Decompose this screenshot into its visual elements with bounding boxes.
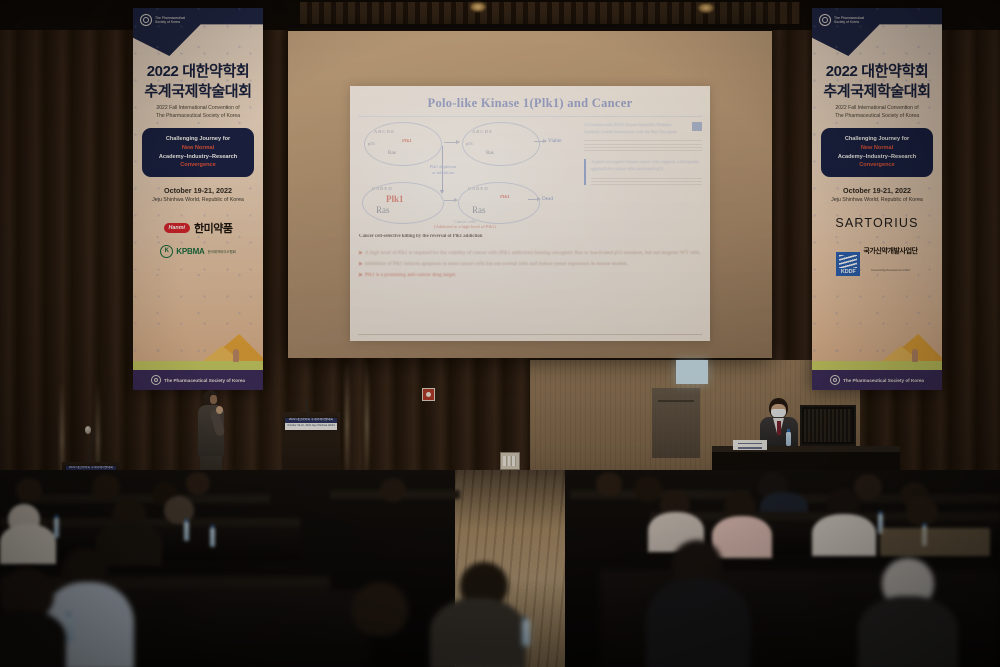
bullet-marker-icon: ▶ <box>359 251 363 256</box>
podium-presenter-nameplate: 2022 대한약학회 추계국제학술대회 October 19-21, 2022 … <box>285 418 337 430</box>
audience-head <box>596 472 622 496</box>
plk1-label: Plk1 <box>500 195 510 200</box>
banner-footer-text: The Pharmaceutical Society of Korea <box>164 378 245 383</box>
psk-logo-text: The Pharmaceutical Society of Korea <box>155 16 185 25</box>
bullet-marker-icon: ▶ <box>359 262 363 267</box>
kddf-mark-icon <box>836 252 860 276</box>
audience-area <box>0 470 1000 667</box>
banner-figure-graphic <box>912 349 918 362</box>
audience-head <box>634 476 662 502</box>
reference-body-lines <box>584 140 702 151</box>
audience-body <box>0 610 66 667</box>
banner-grass-band <box>812 361 942 370</box>
reference-title: A Genome-wide RNAi Screen Identifies Mul… <box>584 122 702 135</box>
outcome-dead: Dead <box>542 196 553 202</box>
fire-alarm-icon <box>422 388 435 401</box>
ras-label-large: Ras <box>376 205 390 215</box>
audience-body <box>712 516 772 558</box>
presentation-slide: Polo-like Kinase 1(Plk1) and Cancer A B … <box>350 86 710 341</box>
slide-subheading: Cancer cell-selective killing by the rev… <box>359 234 482 239</box>
depletion-note-line1: Plk1 depletion <box>430 164 457 169</box>
kddf-korean-name: 국가신약개발사업단 <box>863 248 917 255</box>
session-monitor <box>800 405 856 446</box>
kpbma-logo: K KPBMA 한국제약바이오협회 <box>160 245 235 258</box>
kpbma-mark-icon: K <box>160 245 173 258</box>
cell-letters-bottom-right: C A B E D <box>468 186 488 191</box>
kddf-logo: 국가신약개발사업단 Korea Drug Development Fund <box>836 240 917 276</box>
banner-english-title: 2022 Fall International Convention of Th… <box>812 105 942 120</box>
psk-line2: Society of Korea <box>834 20 864 24</box>
confidence-monitor <box>676 360 708 384</box>
ceiling-light <box>470 2 486 12</box>
seat-row-desk <box>20 494 270 503</box>
bullet-item: ▶Plk1 is a promising anti-cancer drug ta… <box>359 270 701 281</box>
slide-bullet-list: ▶A high level of Plk1 is required for th… <box>359 248 701 280</box>
banner-en-line1: 2022 Fall International Convention of <box>812 105 942 113</box>
reference-quote-text: A panel of isogenic human cancer cells s… <box>591 159 702 172</box>
depletion-note-line2: or inhibition <box>432 170 455 175</box>
ras-label: Ras <box>486 150 494 156</box>
banner-left: The Pharmaceutical Society of Korea 2022… <box>133 8 263 390</box>
reference-quote-lines <box>591 178 702 186</box>
microphone-head-icon <box>85 426 91 434</box>
audience-head <box>380 478 406 502</box>
p53-label: p53 <box>466 141 473 146</box>
water-bottle <box>786 432 791 446</box>
water-bottle <box>66 616 74 642</box>
slide-title: Polo-like Kinase 1(Plk1) and Cancer <box>350 96 710 111</box>
kddf-english-name: Korea Drug Development Fund <box>871 268 910 272</box>
podium-plate-band: 2022 대한약학회 추계국제학술대회 <box>285 418 337 423</box>
audience-head <box>352 582 408 636</box>
arrow-top <box>444 142 459 143</box>
banner-hill-graphic <box>133 330 263 364</box>
presenter-hand <box>216 406 223 414</box>
outcome-viable: Viable <box>548 138 562 144</box>
psk-seal-icon <box>140 14 152 26</box>
water-bottle <box>54 518 59 538</box>
slogan-line3: Academy–Industry–Research <box>825 153 929 162</box>
slogan-line1: Challenging Journey for <box>146 135 250 144</box>
plk1-addiction-diagram: A B C D E p53 Plk1 Ras A B C D E p53 Ras… <box>358 120 572 228</box>
depletion-note: Plk1 depletion or inhibition <box>406 164 480 176</box>
slogan-line2: New Normal <box>825 144 929 153</box>
banner-slogan-pill: Challenging Journey for New Normal Acade… <box>142 128 254 177</box>
banner-sponsor-logos-right: SARTORIUS 국가신약개발사업단 Korea Drug Developme… <box>812 216 942 281</box>
audience-body <box>430 598 526 667</box>
banner-korean-title: 2022 대한약학회 추계국제학술대회 <box>133 60 263 101</box>
water-bottle <box>522 620 530 646</box>
slogan-line3: Academy–Industry–Research <box>146 153 250 162</box>
arrow-to-dead <box>528 199 540 200</box>
bullet-item: ▶A high level of Plk1 is required for th… <box>359 248 701 259</box>
banner-slogan-pill: Challenging Journey for New Normal Acade… <box>821 128 933 177</box>
banner-en-line2: The Pharmaceutical Society of Korea <box>812 113 942 121</box>
seat-row-desk <box>0 518 300 526</box>
cell-letters-top-left: A B C D E <box>374 129 394 134</box>
banner-title-line2: 추계국제학술대회 <box>133 80 263 101</box>
kpbma-wordmark: KPBMA <box>176 247 204 256</box>
banner-title-line1: 2022 대한약학회 <box>133 60 263 81</box>
bullet-text: A high level of Plk1 is required for the… <box>365 250 701 256</box>
audience-head <box>164 496 194 524</box>
audience-body <box>812 514 876 556</box>
microphone-head-icon <box>302 393 308 401</box>
cell-letters-bottom-left: C A B E D <box>372 186 392 191</box>
banner-venue: Jeju Shinhwa World, Republic of Korea <box>133 197 263 203</box>
sartorius-logo: SARTORIUS <box>812 216 942 230</box>
ceiling-light <box>698 3 714 13</box>
paper-bag <box>880 528 990 556</box>
banner-date: October 19-21, 2022 <box>133 186 263 195</box>
water-bottle <box>184 522 189 541</box>
audience-head <box>16 478 42 502</box>
arrow-to-viable <box>534 141 546 142</box>
kddf-names: 국가신약개발사업단 Korea Drug Development Fund <box>863 240 917 276</box>
reference-quote: A panel of isogenic human cancer cells s… <box>584 159 702 185</box>
banner-figure-graphic <box>233 349 239 362</box>
hanmi-korean-name: 한미약품 <box>194 220 232 236</box>
psk-seal-icon <box>151 375 161 385</box>
slogan-line2: New Normal <box>146 144 250 153</box>
audience-body <box>96 522 162 566</box>
slogan-line1: Challenging Journey for <box>825 135 929 144</box>
psk-seal-icon <box>819 14 831 26</box>
water-bottle <box>210 528 215 547</box>
psk-line2: Society of Korea <box>155 20 185 24</box>
banner-english-title: 2022 Fall International Convention of Th… <box>133 105 263 120</box>
audience-head <box>186 472 210 494</box>
kpbma-korean-name: 한국제약바이오협회 <box>208 249 236 254</box>
banner-footer-text: The Pharmaceutical Society of Korea <box>843 378 924 383</box>
bullet-marker-icon: ▶ <box>359 273 363 278</box>
banner-footer: The Pharmaceutical Society of Korea <box>133 370 263 390</box>
screen-top-rail <box>288 28 772 31</box>
slide-title-divider <box>358 116 702 117</box>
reference-panel: A Genome-wide RNAi Screen Identifies Mul… <box>584 122 702 188</box>
plk1-label-large: Plk1 <box>386 194 404 204</box>
psk-logo-text: The Pharmaceutical Society of Korea <box>834 16 864 25</box>
banner-en-line1: 2022 Fall International Convention of <box>133 105 263 113</box>
hanmi-wordmark: Hanmi <box>164 223 190 232</box>
podium-plate-top-text: 2022 대한약학회 추계국제학술대회 <box>285 418 337 422</box>
banner-date: October 19-21, 2022 <box>812 186 942 195</box>
audience-body <box>0 524 56 564</box>
cell-letters-top-right: A B C D E <box>472 129 492 134</box>
ras-label-large: Ras <box>472 205 486 215</box>
seat-row-desk <box>790 494 1000 503</box>
slide-footer-rule <box>358 334 702 335</box>
stage-door <box>652 388 700 458</box>
ceiling-baffle <box>300 2 800 24</box>
audience-body <box>858 596 958 667</box>
audience-head <box>92 474 120 500</box>
conference-hall-photo: Polo-like Kinase 1(Plk1) and Cancer A B … <box>0 0 1000 667</box>
seat-row <box>190 590 370 667</box>
psk-logo-top: The Pharmaceutical Society of Korea <box>819 14 864 26</box>
chair-nameplate <box>733 440 767 450</box>
banner-en-line2: The Pharmaceutical Society of Korea <box>133 113 263 121</box>
banner-korean-title: 2022 대한약학회 추계국제학술대회 <box>812 60 942 101</box>
banner-right: The Pharmaceutical Society of Korea 2022… <box>812 8 942 390</box>
banner-title-line1: 2022 대한약학회 <box>812 60 942 81</box>
slogan-line4: Convergence <box>825 161 929 170</box>
plk1-label: Plk1 <box>402 139 412 144</box>
banner-hill-graphic <box>812 330 942 364</box>
banner-venue: Jeju Shinhwa World, Republic of Korea <box>812 197 942 203</box>
audience-head <box>906 496 938 526</box>
projection-screen: Polo-like Kinase 1(Plk1) and Cancer A B … <box>288 28 772 358</box>
banner-sponsor-logos-left: Hanmi 한미약품 K KPBMA 한국제약바이오협회 <box>133 216 263 258</box>
bullet-item: ▶Inhibition of Plk1 induces apoptosis in… <box>359 259 701 270</box>
psk-seal-icon <box>830 375 840 385</box>
bullet-text: Plk1 is a promising anti-cancer drug tar… <box>365 272 457 278</box>
banner-footer: The Pharmaceutical Society of Korea <box>812 370 942 390</box>
arrow-bottom <box>444 200 457 201</box>
p53-label: p53 <box>368 141 375 146</box>
ras-label: Ras <box>388 150 396 156</box>
bullet-text: Inhibition of Plk1 induces apoptosis in … <box>365 261 628 267</box>
presenter-face <box>210 395 217 404</box>
chair-necktie <box>777 421 781 435</box>
light-switch-panel[interactable] <box>500 452 520 470</box>
hanmi-logo: Hanmi 한미약품 <box>164 220 233 236</box>
psk-logo-top: The Pharmaceutical Society of Korea <box>140 14 185 26</box>
banner-grass-band <box>133 361 263 370</box>
audience-body <box>646 578 750 667</box>
podium-plate-bottom-text: October 19-21, 2022 Jeju Shinhwa World <box>285 424 337 427</box>
banner-title-line2: 추계국제학술대회 <box>812 80 942 101</box>
addiction-caption: (Addicted to a high level of Plk1) <box>358 224 572 229</box>
slogan-line4: Convergence <box>146 161 250 170</box>
